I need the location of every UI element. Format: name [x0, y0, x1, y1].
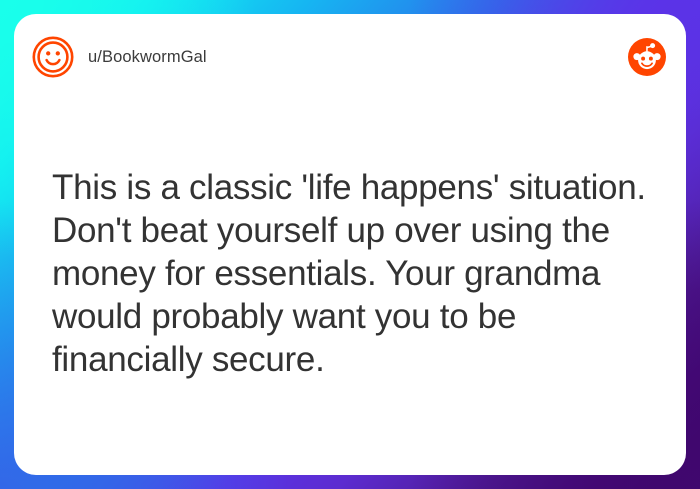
smiley-face-icon — [32, 36, 74, 78]
post-body: This is a classic 'life happens' situati… — [52, 166, 656, 381]
post-header: u/BookwormGal — [14, 14, 686, 100]
screenshot-root: u/BookwormGal — [0, 0, 700, 489]
reddit-snoo-icon — [628, 38, 666, 76]
post-text: This is a classic 'life happens' situati… — [52, 166, 656, 381]
username-label: u/BookwormGal — [88, 48, 207, 67]
post-card: u/BookwormGal — [14, 14, 686, 475]
